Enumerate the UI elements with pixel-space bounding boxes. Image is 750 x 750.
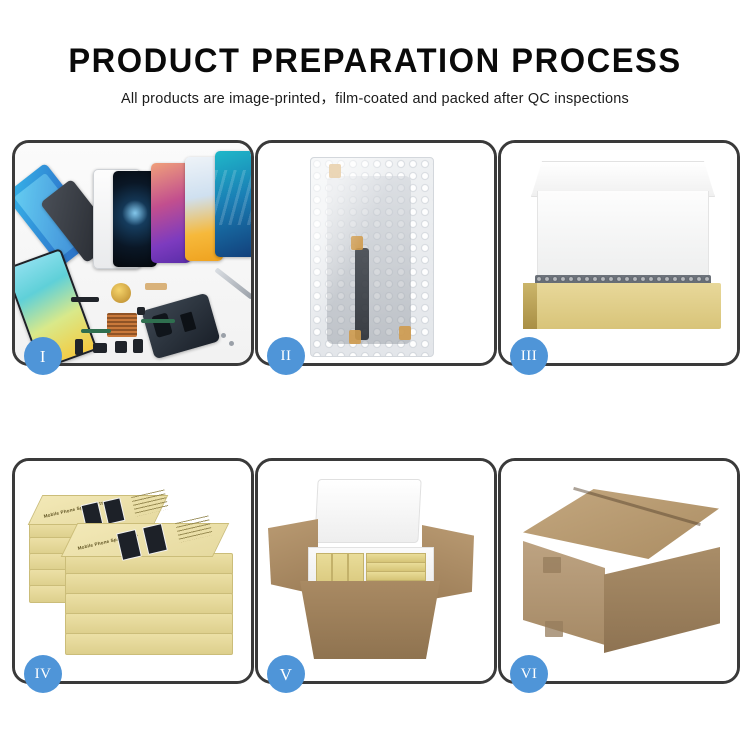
shield-grid-icon: [107, 313, 137, 337]
step-panel-2: II: [255, 140, 497, 366]
page-subtitle: All products are image-printed，film-coat…: [0, 80, 750, 108]
carton-tape-lower-icon: [545, 621, 563, 637]
box-text-lines-rear: [131, 489, 169, 516]
step-panel-5: V: [255, 458, 497, 684]
process-steps-grid: I II: [12, 140, 740, 680]
header: PRODUCT PREPARATION PROCESS All products…: [0, 0, 750, 108]
camera-module-icon: [115, 341, 127, 353]
carton-tape-upper-icon: [543, 557, 561, 573]
step-image-3: [501, 143, 737, 363]
step-image-2: [258, 143, 494, 363]
small-part-2-icon: [93, 343, 107, 353]
phone-back-housing-icon: [141, 293, 220, 360]
step-badge-3: III: [510, 337, 548, 375]
step-image-4: Mobile Phone Spare Parts Mobile Phone Sp…: [15, 461, 251, 681]
page-title: PRODUCT PREPARATION PROCESS: [15, 0, 735, 80]
bubble-wrap-bag-icon: [310, 157, 434, 357]
screw-2-icon: [229, 341, 234, 346]
small-part-1-icon: [75, 339, 83, 355]
antenna-strip-icon: [71, 297, 99, 302]
shipping-carton-body-icon: [300, 581, 440, 659]
step-badge-5: V: [267, 655, 305, 693]
stack-box-f4: [65, 613, 233, 635]
step-image-5: [258, 461, 494, 681]
stack-box-f2: [65, 573, 233, 595]
step-badge-6: VI: [510, 655, 548, 693]
kraft-box-tray-icon: [523, 283, 721, 329]
step-panel-4: Mobile Phone Spare Parts Mobile Phone Sp…: [12, 458, 254, 684]
product-preparation-infographic: PRODUCT PREPARATION PROCESS All products…: [0, 0, 750, 750]
connector-icon: [145, 283, 167, 290]
step-image-1: [15, 143, 251, 363]
flex-cable-2-icon: [141, 319, 175, 323]
step-badge-4: IV: [24, 655, 62, 693]
small-part-3-icon: [133, 339, 143, 353]
step-panel-1: I: [12, 140, 254, 366]
bag-gloss-overlay: [311, 158, 433, 356]
phone-teal-icon: [215, 151, 251, 257]
speaker-coil-icon: [111, 283, 131, 303]
screwdriver-icon: [214, 267, 251, 299]
styrofoam-lid-icon: [314, 479, 421, 543]
step-image-6: [501, 461, 737, 681]
foam-padding-icon: [537, 191, 709, 285]
kraft-box-side-icon: [523, 283, 537, 329]
box-stack-icon: Mobile Phone Spare Parts Mobile Phone Sp…: [29, 487, 237, 659]
step-panel-6: VI: [498, 458, 740, 684]
screw-icon: [221, 333, 226, 338]
flex-cable-icon: [81, 329, 111, 333]
small-part-4-icon: [137, 307, 145, 315]
step-panel-3: III: [498, 140, 740, 366]
carton-right-face-icon: [604, 547, 720, 653]
stack-box-f3: [65, 593, 233, 615]
carton-left-face-icon: [523, 541, 605, 645]
stack-box-f5: [65, 633, 233, 655]
step-badge-2: II: [267, 337, 305, 375]
step-badge-1: I: [24, 337, 62, 375]
